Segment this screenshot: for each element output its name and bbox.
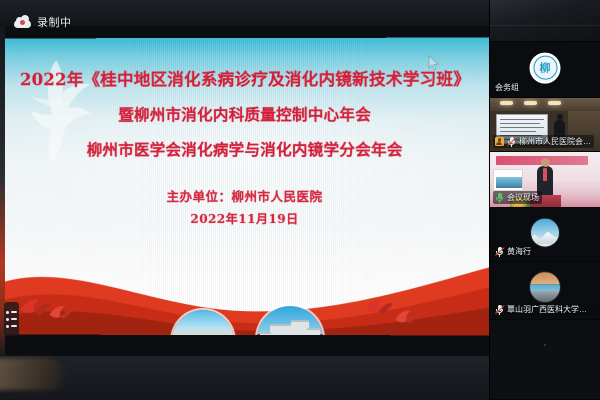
slide-date-line: 2022年11月19日 — [1, 210, 489, 227]
participant-sidebar[interactable]: 柳 会务组 — [489, 0, 600, 400]
slide-title-line-2: 暨柳州市消化内科质量控制中心年会 — [1, 103, 489, 125]
mouse-pointer — [428, 55, 439, 71]
participant-name: 会务组 — [495, 82, 519, 93]
host-badge-icon — [495, 137, 504, 146]
presentation-slide: 2022年《桂中地区消化系病诊疗及消化内镜新技术学习班》 暨柳州市消化内科质量控… — [1, 38, 489, 336]
avatar — [529, 271, 561, 303]
shared-screen-stage[interactable]: 2022年《桂中地区消化系病诊疗及消化内镜新技术学习班》 暨柳州市消化内科质量控… — [0, 26, 489, 356]
menu-list-icon[interactable] — [4, 302, 19, 336]
mic-active-icon — [495, 193, 504, 203]
red-bird-icon — [394, 308, 420, 325]
hospital-room-tile[interactable]: 柳州市人民医院会… — [490, 98, 600, 152]
slide-text-block: 2022年《桂中地区消化系病诊疗及消化内镜新技术学习班》 暨柳州市消化内科质量控… — [1, 66, 489, 227]
red-bird-icon — [364, 296, 394, 316]
participant-name: 黄海行 — [507, 246, 531, 257]
mountain-avatar-tile[interactable]: 黄海行 — [490, 208, 600, 262]
empty-tile-area — [490, 320, 600, 400]
hospital-logo-text: 柳 — [533, 56, 557, 80]
red-bird-icon — [48, 304, 74, 321]
participant-label: 会议现场 — [493, 191, 542, 204]
slide-host-line: 主办单位：柳州市人民医院 — [1, 186, 489, 205]
meeting-screen-share-window: 2022年《桂中地区消化系病诊疗及消化内镜新技术学习班》 暨柳州市消化内科质量控… — [0, 0, 600, 400]
mic-muted-icon — [507, 137, 516, 147]
participant-label: 覃山羽广西医科大学第… — [493, 303, 596, 316]
participant-label: 会务组 — [493, 81, 522, 94]
hospital-building-photo — [257, 306, 323, 335]
participant-name: 柳州市人民医院会… — [519, 136, 591, 147]
stage-side-card — [493, 169, 523, 191]
room-ceiling-area — [0, 0, 489, 26]
participant-label: 黄海行 — [493, 245, 534, 258]
slide-title-line-3: 柳州市医学会消化病学与消化内镜学分会年会 — [1, 138, 489, 160]
hospital-logo-icon: 柳 — [530, 52, 561, 83]
avatar — [530, 217, 560, 247]
mic-muted-icon — [495, 305, 504, 315]
recording-indicator: 录制中 — [14, 14, 72, 30]
logo-tile[interactable]: 柳 会务组 — [490, 42, 600, 98]
city-avatar-tile[interactable]: 覃山羽广西医科大学第… — [490, 262, 600, 320]
city-skyline-photo — [172, 310, 234, 336]
red-bird-icon — [19, 296, 53, 318]
participant-name: 覃山羽广西医科大学第… — [507, 304, 593, 315]
room-floor-area — [0, 356, 489, 400]
recording-label: 录制中 — [37, 14, 72, 30]
cloud-record-icon — [14, 16, 31, 28]
dark-room-tile[interactable] — [490, 0, 600, 42]
foreground-object — [0, 358, 66, 390]
mic-muted-icon — [495, 247, 504, 257]
slide-title-line-1: 2022年《桂中地区消化系病诊疗及消化内镜新技术学习班》 — [1, 66, 489, 91]
participant-label: 柳州市人民医院会… — [493, 135, 594, 148]
participant-name: 会议现场 — [507, 192, 539, 203]
presenter-tile[interactable]: 会议现场 — [490, 152, 600, 208]
